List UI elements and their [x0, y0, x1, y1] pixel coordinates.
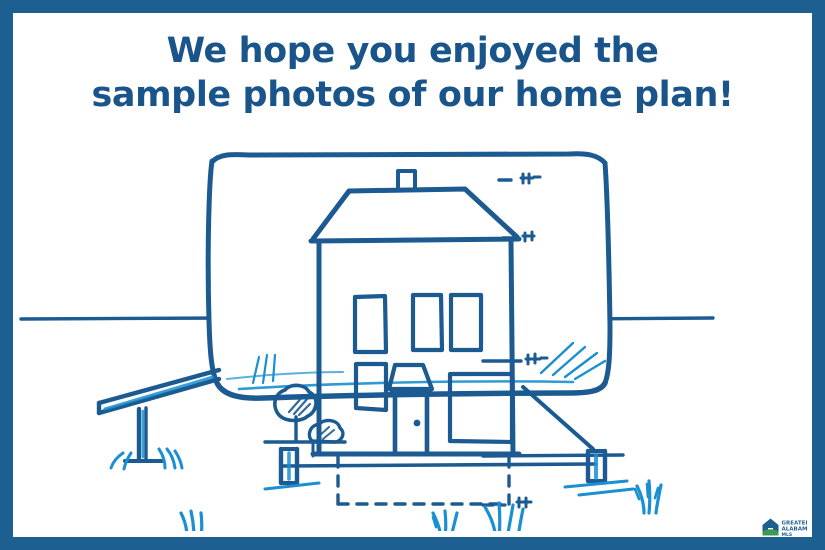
card-inner-panel: We hope you enjoyed the sample photos of… — [13, 13, 812, 537]
support-post-left — [99, 370, 219, 461]
grass-tufts — [181, 481, 661, 531]
headline-line-1: We hope you enjoyed the — [13, 29, 812, 73]
bush — [309, 421, 343, 442]
logo-line-3: MLS — [782, 532, 793, 537]
headline-line-2: sample photos of our home plan! — [13, 73, 812, 117]
logo-house-icon — [763, 519, 779, 536]
logo-line-1: GREATER — [782, 521, 808, 527]
logo-wordmark: GREATER ALABAMA MLS — [782, 521, 808, 538]
greater-alabama-mls-logo: GREATER ALABAMA MLS — [761, 515, 807, 537]
logo-line-2: ALABAMA — [782, 527, 808, 533]
page-title: We hope you enjoyed the sample photos of… — [13, 29, 812, 117]
door-knob — [414, 420, 421, 427]
thank-you-card: We hope you enjoyed the sample photos of… — [0, 0, 825, 550]
dimension-label-4 — [517, 498, 531, 507]
front-door — [395, 393, 427, 454]
blueprint-illustration — [13, 121, 812, 531]
